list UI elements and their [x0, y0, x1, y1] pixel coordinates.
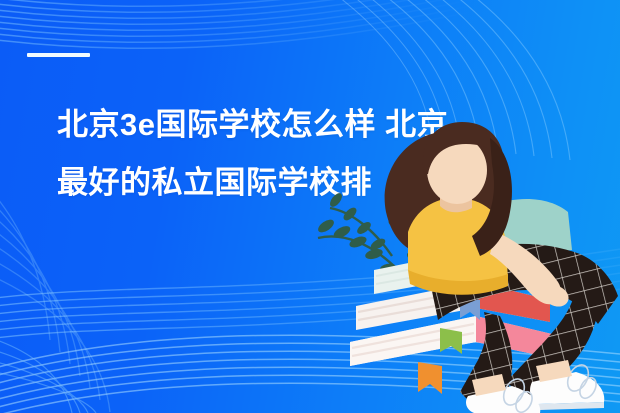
decorative-rule	[27, 53, 90, 57]
article-cover-banner: 北京3e国际学校怎么样 北京 最好的私立国际学校排	[0, 0, 620, 413]
illustration-woman-on-books	[300, 120, 620, 413]
